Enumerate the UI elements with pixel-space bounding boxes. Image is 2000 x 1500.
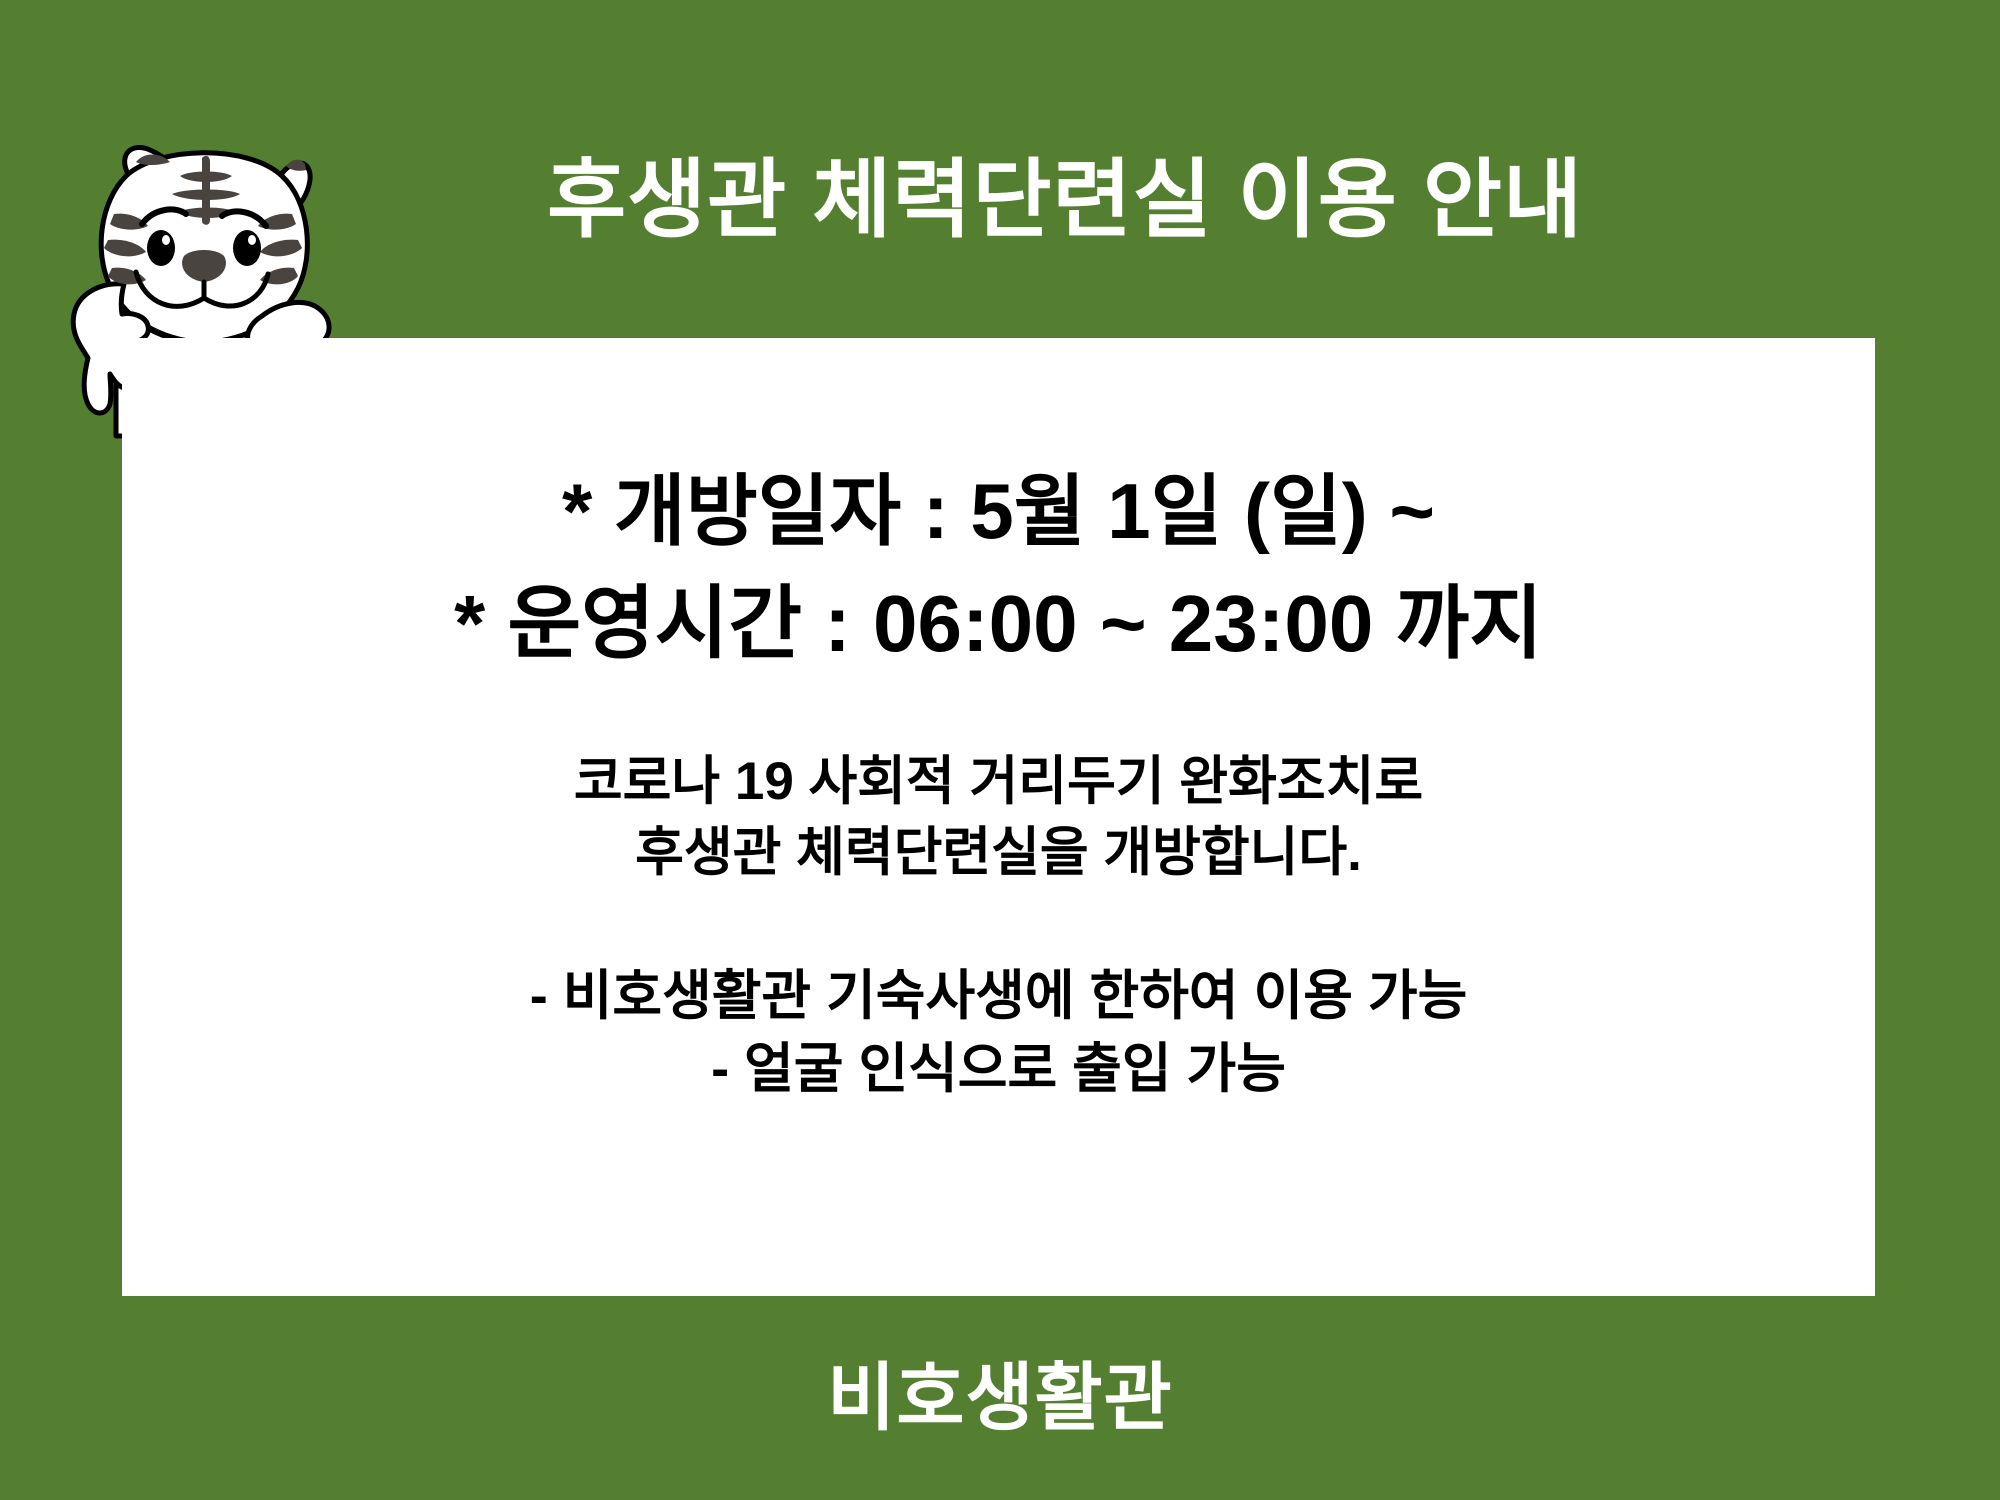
bullet-item-face-recognition: - 얼굴 인식으로 출입 가능 — [530, 1033, 1468, 1105]
content-panel: * 개방일자 : 5월 1일 (일) ~ * 운영시간 : 06:00 ~ 23… — [122, 338, 1875, 1296]
poster-canvas: 후생관 체력단련실 이용 안내 — [0, 0, 2000, 1500]
bullet-list: - 비호생활관 기숙사생에 한하여 이용 가능 - 얼굴 인식으로 출입 가능 — [530, 960, 1468, 1105]
bullet-item-residents-only: - 비호생활관 기숙사생에 한하여 이용 가능 — [530, 960, 1468, 1032]
body-line-2: 후생관 체력단련실을 개방합니다. — [574, 817, 1423, 888]
body-line-1: 코로나 19 사회적 거리두기 완화조치로 — [574, 746, 1423, 817]
body-paragraph: 코로나 19 사회적 거리두기 완화조치로 후생관 체력단련실을 개방합니다. — [574, 746, 1423, 888]
headline-open-date: * 개방일자 : 5월 1일 (일) ~ — [562, 456, 1435, 567]
footer-organization: 비호생활관 — [0, 1338, 2000, 1445]
headline-operating-hours: * 운영시간 : 06:00 ~ 23:00 까지 — [454, 567, 1543, 681]
